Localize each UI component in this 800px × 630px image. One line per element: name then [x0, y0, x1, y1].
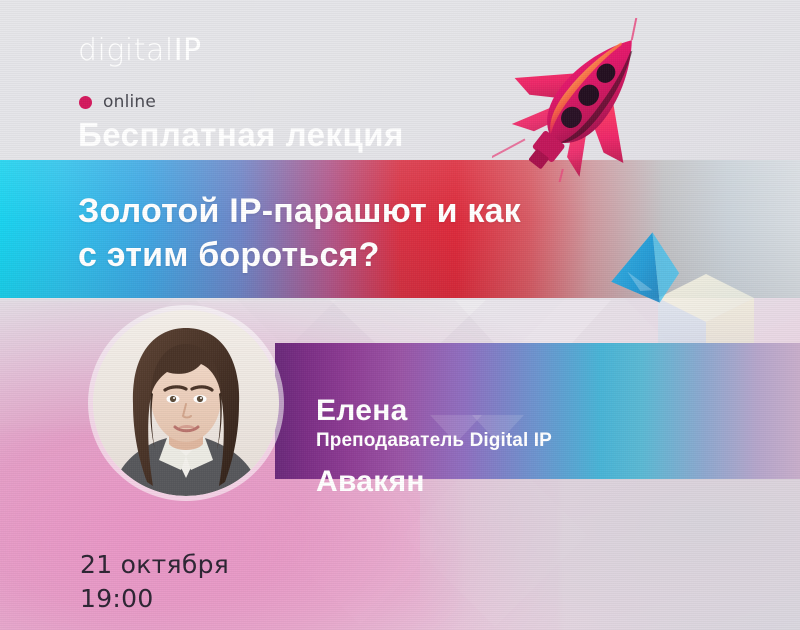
speaker-name-line-1: Елена [316, 393, 425, 428]
brand-logo-text: digital [78, 33, 174, 68]
page-title: Золотой IP-парашют и как с этим бороться… [78, 190, 678, 277]
promo-poster: digitalIP online Бесплатная лекция Золот… [0, 0, 800, 630]
brand-logo-suffix: IP [174, 33, 202, 68]
page-title-line-2: с этим бороться? [78, 234, 678, 278]
status-dot-icon [79, 96, 92, 109]
event-date: 21 октября [80, 548, 229, 582]
event-datetime: 21 октября 19:00 [80, 548, 229, 615]
speaker-name-line-2: Авакян [316, 464, 425, 499]
online-badge: online [79, 92, 156, 112]
event-time: 19:00 [80, 582, 229, 616]
page-title-line-1: Золотой IP-парашют и как [78, 190, 678, 234]
online-badge-label: online [103, 92, 156, 112]
brand-logo[interactable]: digitalIP [78, 36, 202, 66]
avatar [93, 310, 279, 496]
kicker-text: Бесплатная лекция [78, 116, 404, 154]
speaker-role: Преподаватель Digital IP [316, 430, 552, 452]
rocket-icon [492, 18, 678, 182]
